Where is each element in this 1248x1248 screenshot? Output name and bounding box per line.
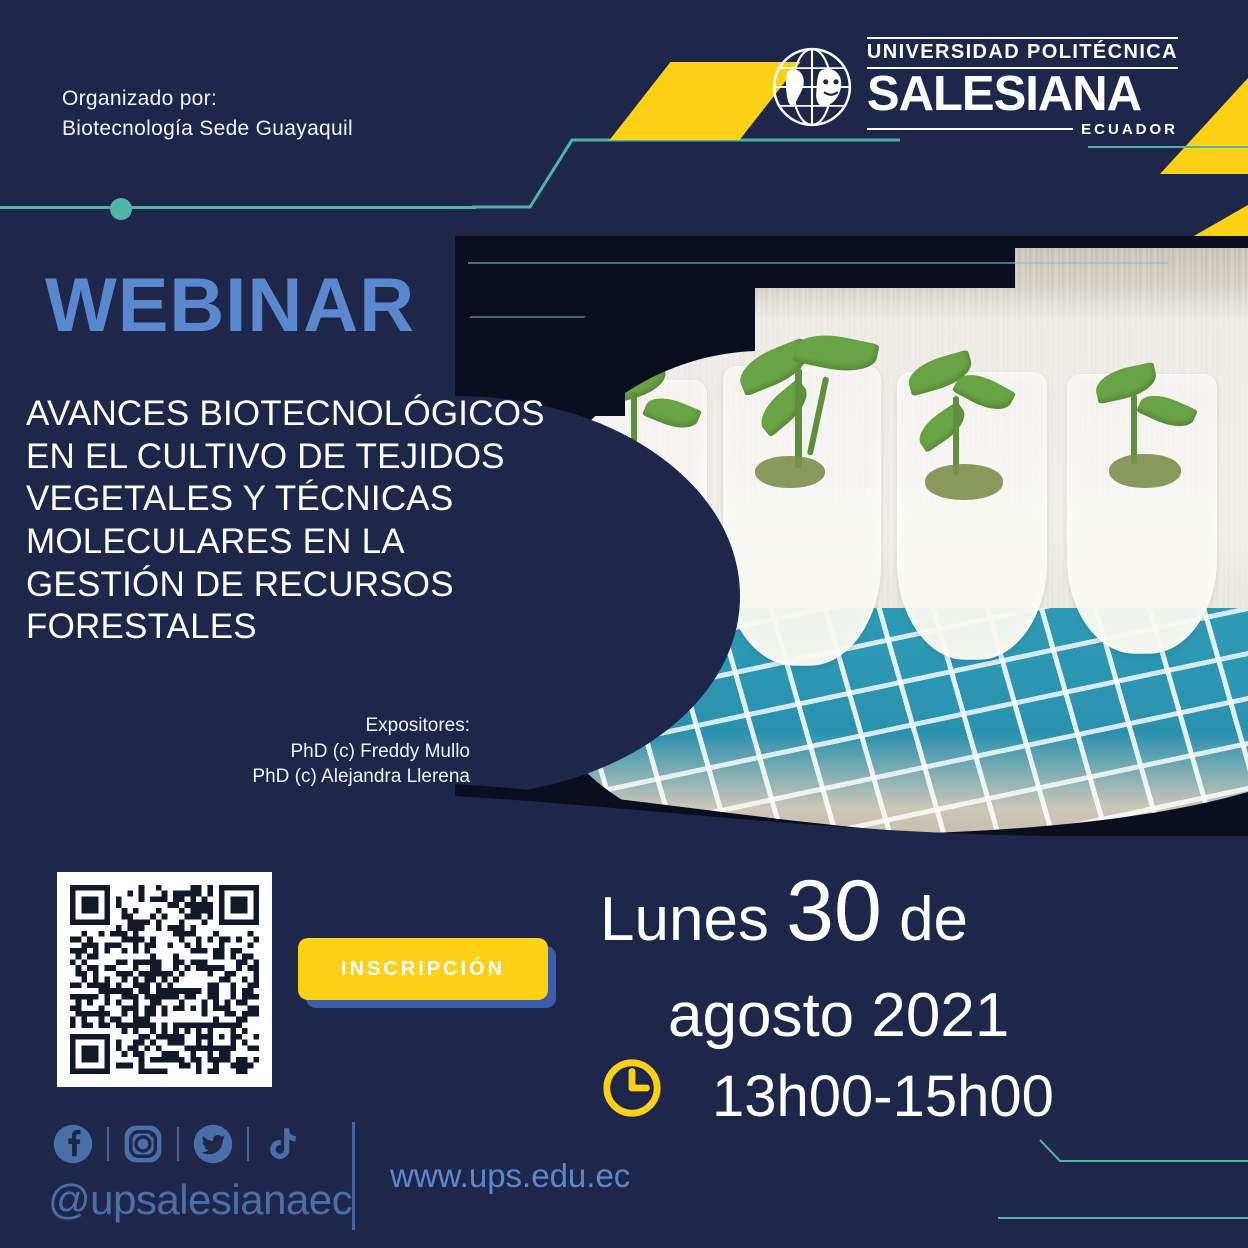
university-logo: UNIVERSIDAD POLITÉCNICA SALESIANA ECUADO… (769, 36, 1178, 138)
page-title: AVANCES BIOTECNOLÓGICOS EN EL CULTIVO DE… (26, 393, 686, 649)
logo-line-3: ECUADOR (1081, 121, 1178, 138)
social-handle[interactable]: @upsalesianaec (48, 1176, 352, 1224)
clock-icon (601, 1057, 663, 1119)
title-line: VEGETALES Y TÉCNICAS (26, 478, 686, 521)
title-line: FORESTALES (26, 606, 686, 649)
poster-root: UNIVERSIDAD POLITÉCNICA SALESIANA ECUADO… (0, 0, 1248, 1248)
organizer-name: Biotecnología Sede Guayaquil (62, 114, 353, 144)
logo-line-2: SALESIANA (867, 70, 1141, 120)
organizer-block: Organizado por: Biotecnología Sede Guaya… (62, 84, 353, 145)
inscription-button[interactable]: INSCRIPCIÓN (298, 938, 548, 1000)
webinar-kicker: WEBINAR (45, 268, 415, 344)
speaker-name: PhD (c) Freddy Mullo (60, 739, 470, 765)
event-day-number: 30 (786, 863, 882, 959)
footer-vertical-divider (352, 1122, 355, 1230)
title-line: MOLECULARES EN LA (26, 521, 686, 564)
twitter-icon[interactable] (192, 1123, 234, 1165)
logo-line-1: UNIVERSIDAD POLITÉCNICA (867, 41, 1178, 64)
social-media-row (52, 1123, 304, 1165)
teal-dot-node (110, 198, 132, 220)
speaker-name: PhD (c) Alejandra Llerena (60, 764, 470, 790)
organized-by-label: Organizado por: (62, 84, 353, 114)
speakers-label: Expositores: (60, 713, 470, 739)
facebook-icon[interactable] (52, 1123, 94, 1165)
title-line: AVANCES BIOTECNOLÓGICOS (26, 393, 686, 436)
title-line: GESTIÓN DE RECURSOS (26, 564, 686, 607)
qr-canvas (70, 885, 259, 1074)
event-date-line-1: Lunes 30 de (600, 868, 968, 954)
teal-line-right-upper (1088, 146, 1248, 148)
event-date-line-2: agosto 2021 (668, 985, 1009, 1047)
teal-line-bottom (998, 1217, 1248, 1219)
instagram-icon[interactable] (122, 1123, 164, 1165)
social-separator (107, 1127, 109, 1161)
website-url[interactable]: www.ups.edu.ec (390, 1157, 630, 1195)
tiktok-icon[interactable] (262, 1123, 304, 1165)
title-line: EN EL CULTIVO DE TEJIDOS (26, 436, 686, 479)
globe-face-emblem (769, 44, 855, 130)
event-time: 13h00-15h00 (712, 1068, 1054, 1126)
speakers-block: Expositores: PhD (c) Freddy Mullo PhD (c… (60, 713, 470, 790)
registration-qr-code[interactable] (57, 872, 272, 1087)
event-day-word: Lunes (600, 885, 769, 954)
social-separator (177, 1127, 179, 1161)
social-separator (247, 1127, 249, 1161)
teal-horizontal-line-top (0, 206, 476, 209)
event-de-word: de (899, 885, 968, 954)
